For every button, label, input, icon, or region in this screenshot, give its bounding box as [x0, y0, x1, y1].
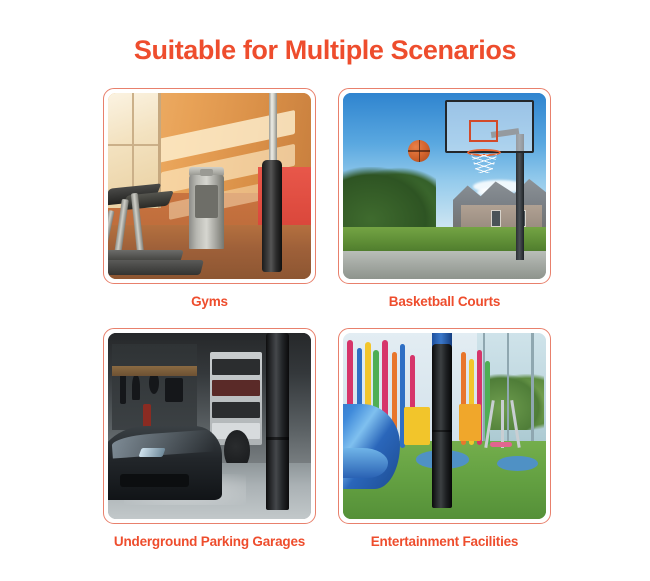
- swing-seat: [490, 442, 512, 447]
- yellow-play-panel: [404, 407, 430, 444]
- garage-photo: [108, 333, 311, 519]
- card-image-frame: [338, 88, 551, 284]
- page-title: Suitable for Multiple Scenarios: [0, 33, 650, 67]
- black-column-wrap: [432, 344, 451, 508]
- swing-set: [485, 400, 517, 448]
- black-column-wrap: [262, 160, 281, 272]
- backboard-square: [469, 120, 498, 142]
- treadmill-group: [108, 182, 214, 275]
- basketball: [408, 140, 430, 162]
- swing-leg: [501, 400, 504, 448]
- shelf-row: [212, 359, 261, 375]
- scenarios-page: Suitable for Multiple Scenarios: [0, 0, 650, 581]
- window-mullion: [531, 333, 534, 448]
- shelf-row: [212, 380, 261, 396]
- tool-box: [165, 378, 183, 402]
- floor-marking: [497, 456, 538, 471]
- treadmill-deck: [108, 260, 204, 275]
- hanging-tool: [120, 374, 126, 404]
- scenario-card-basketball-courts[interactable]: Basketball Courts: [338, 88, 551, 310]
- hoop-pole: [516, 134, 523, 260]
- card-label-gyms: Gyms: [191, 293, 228, 310]
- shelf-row: [212, 402, 261, 418]
- card-image-frame: [103, 88, 316, 284]
- swing-leg: [485, 400, 495, 448]
- scenario-card-entertainment-facilities[interactable]: Entertainment Facilities: [338, 328, 551, 550]
- yellow-play-panel: [459, 404, 481, 441]
- black-column-wrap: [266, 333, 288, 510]
- car-front-grill: [120, 474, 189, 487]
- playground-photo: [343, 333, 546, 519]
- column-seam: [266, 437, 288, 440]
- scenario-card-gyms[interactable]: Gyms: [103, 88, 316, 310]
- backboard: [445, 100, 534, 152]
- card-label-underground-parking-garages: Underground Parking Garages: [114, 533, 305, 550]
- card-image-frame: [103, 328, 316, 524]
- treadmill-arm: [108, 210, 115, 255]
- column-seam: [432, 430, 451, 432]
- card-label-entertainment-facilities: Entertainment Facilities: [371, 533, 519, 550]
- basketball-photo: [343, 93, 546, 279]
- house-window: [491, 210, 501, 227]
- scenario-grid-row: Gyms: [103, 88, 551, 310]
- scenario-card-underground-parking-garages[interactable]: Underground Parking Garages: [103, 328, 316, 550]
- scenario-grid-row: Underground Parking Garages: [103, 328, 551, 550]
- fire-extinguisher: [143, 404, 151, 428]
- gym-photo: [108, 93, 311, 279]
- scenario-card-grid: Gyms: [103, 88, 551, 550]
- wall-shelf: [112, 366, 197, 375]
- slide-lip: [343, 448, 388, 478]
- treadmill-arm: [114, 199, 129, 255]
- card-label-basketball-courts: Basketball Courts: [389, 293, 500, 310]
- card-image-frame: [338, 328, 551, 524]
